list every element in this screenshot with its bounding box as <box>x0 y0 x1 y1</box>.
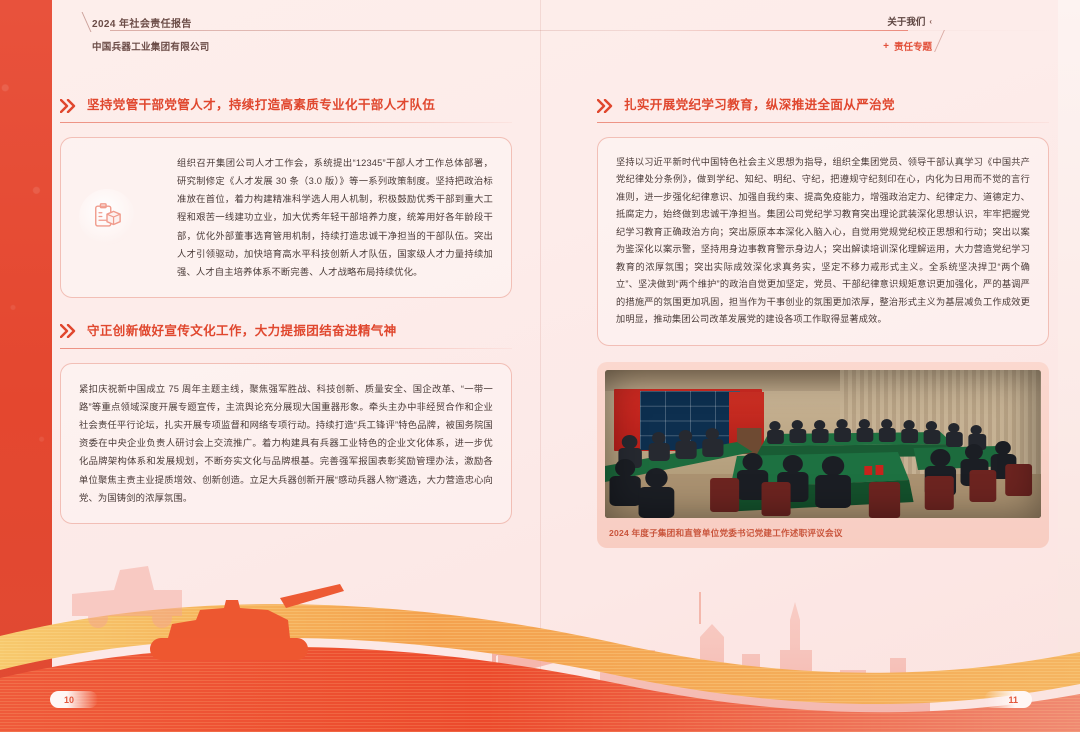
left-edge-strip <box>0 0 52 732</box>
chevron-left-icon: ‹ <box>929 17 932 26</box>
content-card-culture: 紧扣庆祝新中国成立 75 周年主题主线，聚焦强军胜战、科技创新、质量安全、国企改… <box>60 363 512 524</box>
section-heading-discipline: 扎实开展党纪学习教育，纵深推进全面从严治党 <box>597 98 1049 123</box>
section-title-text: 扎实开展党纪学习教育，纵深推进全面从严治党 <box>624 98 895 113</box>
section-body-talent: 组织召开集团公司人才工作会，系统提出“12345”干部人才工作总体部署，研究制修… <box>177 154 493 281</box>
right-edge-strip <box>1058 0 1080 732</box>
photo-card: 2024 年度子集团和直管单位党委书记党建工作述职评议会议 <box>597 362 1049 548</box>
section-divider <box>60 348 512 349</box>
double-chevron-icon <box>60 99 78 113</box>
page-header: 2024 年社会责任报告 中国兵器工业集团有限公司 关于我们 ‹ + 责任专题 <box>52 0 1058 62</box>
section-title-text: 守正创新做好宣传文化工作，大力提振团结奋进精气神 <box>87 324 397 339</box>
content-card-discipline: 坚持以习近平新时代中国特色社会主义思想为指导，组织全集团党员、领导干部认真学习《… <box>597 137 1049 346</box>
photo-caption: 2024 年度子集团和直管单位党委书记党建工作述职评议会议 <box>605 518 1041 548</box>
report-spread: 2024 年社会责任报告 中国兵器工业集团有限公司 关于我们 ‹ + 责任专题 <box>0 0 1080 732</box>
conference-room-meeting-photo <box>605 370 1041 518</box>
section-heading-talent: 坚持党管干部党管人才，持续打造高素质专业化干部人才队伍 <box>60 98 512 123</box>
left-column: 坚持党管干部党管人才，持续打造高素质专业化干部人才队伍 组织召开集团公司人才工作… <box>60 98 512 524</box>
double-chevron-icon <box>60 324 78 338</box>
plus-icon: + <box>883 41 889 52</box>
page-number-left: 10 <box>50 691 98 708</box>
section-divider <box>60 122 512 123</box>
page-number-right: 11 <box>984 691 1032 708</box>
header-rule-accent <box>656 30 908 31</box>
report-title: 2024 年社会责任报告 <box>92 15 192 30</box>
nav-topic-label: 责任专题 <box>894 39 932 53</box>
section-body-culture: 紧扣庆祝新中国成立 75 周年主题主线，聚焦强军胜战、科技创新、质量安全、国企改… <box>79 380 493 507</box>
company-name: 中国兵器工业集团有限公司 <box>92 39 210 53</box>
section-body-discipline: 坚持以习近平新时代中国特色社会主义思想为指导，组织全集团党员、领导干部认真学习《… <box>616 154 1030 329</box>
content-sheet: 坚持党管干部党管人才，持续打造高素质专业化干部人才队伍 组织召开集团公司人才工作… <box>52 70 1058 732</box>
nav-about-label: 关于我们 <box>887 14 925 28</box>
section-title-text: 坚持党管干部党管人才，持续打造高素质专业化干部人才队伍 <box>87 98 435 113</box>
clipboard-cube-icon <box>79 189 135 245</box>
nav-responsibility-topic[interactable]: + 责任专题 <box>883 39 932 53</box>
section-divider <box>597 122 1049 123</box>
right-column: 扎实开展党纪学习教育，纵深推进全面从严治党 坚持以习近平新时代中国特色社会主义思… <box>597 98 1049 548</box>
section-heading-culture: 守正创新做好宣传文化工作，大力提振团结奋进精气神 <box>60 324 512 349</box>
double-chevron-icon <box>597 99 615 113</box>
content-card-talent: 组织召开集团公司人才工作会，系统提出“12345”干部人才工作总体部署，研究制修… <box>60 137 512 298</box>
header-rule <box>110 30 1058 31</box>
nav-about-us[interactable]: 关于我们 ‹ <box>887 14 932 28</box>
